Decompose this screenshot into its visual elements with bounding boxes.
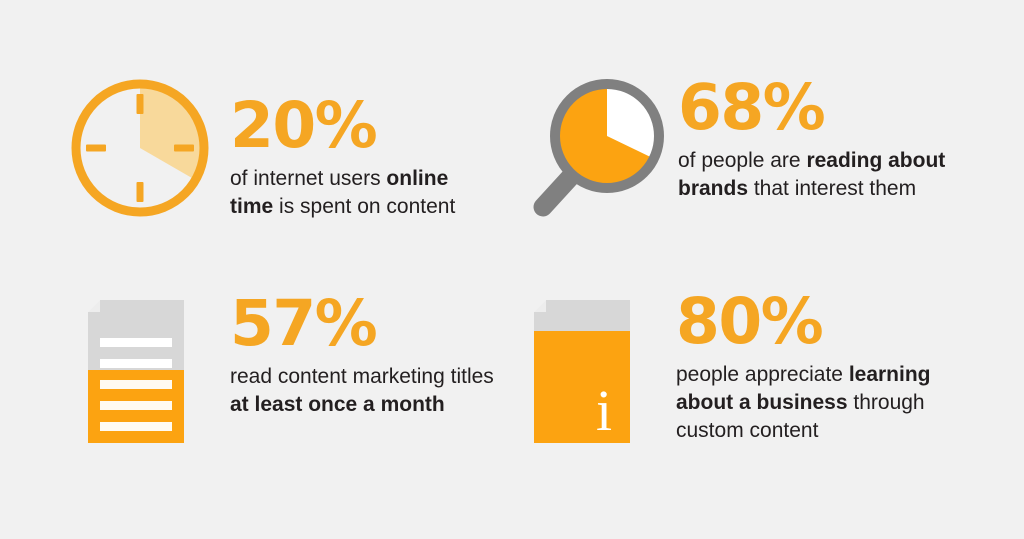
stat-number: 80% bbox=[676, 292, 958, 352]
plain-text: people appreciate bbox=[676, 363, 849, 386]
clock-tick-12 bbox=[137, 94, 144, 114]
stat-description: read content marketing titles at least o… bbox=[230, 363, 512, 419]
clock-icon bbox=[66, 74, 214, 222]
plain-text: is spent on content bbox=[273, 195, 455, 218]
stat-description: people appreciate learning about a busin… bbox=[676, 361, 958, 445]
magnifier-pie-icon-svg bbox=[528, 74, 666, 234]
document-fold-shadow bbox=[534, 300, 546, 312]
document-text-line bbox=[100, 380, 172, 389]
stat-number: 20% bbox=[230, 96, 496, 156]
stat-card-appreciate-learning-about-business: i 80% people appreciate learning about a… bbox=[528, 288, 958, 453]
plain-text: of people are bbox=[678, 149, 806, 172]
document-info-letter: i bbox=[596, 378, 612, 443]
stat-card-people-reading-about-brands: 68% of people are reading about brands t… bbox=[528, 74, 958, 234]
stat-number: 57% bbox=[230, 294, 512, 354]
clock-tick-9 bbox=[86, 145, 106, 152]
stat-description: of internet users online time is spent o… bbox=[230, 165, 496, 221]
clock-tick-3 bbox=[174, 145, 194, 152]
document-lines-icon-svg bbox=[82, 288, 202, 453]
stat-card-internet-users-online-time: 20% of internet users online time is spe… bbox=[66, 74, 496, 222]
document-lines-icon bbox=[82, 288, 202, 453]
document-text-line bbox=[100, 338, 172, 347]
stat-description: of people are reading about brands that … bbox=[678, 147, 958, 203]
document-text-line bbox=[100, 359, 172, 368]
document-info-icon: i bbox=[528, 288, 648, 453]
stat-text-block: 20% of internet users online time is spe… bbox=[230, 74, 496, 221]
stat-number: 68% bbox=[678, 78, 958, 138]
document-info-icon-svg: i bbox=[528, 288, 648, 453]
document-text-line bbox=[100, 401, 172, 410]
stat-card-read-content-marketing-titles: 57% read content marketing titles at lea… bbox=[82, 288, 512, 453]
clock-wedge bbox=[140, 88, 200, 178]
emphasis-text: at least once a month bbox=[230, 393, 445, 416]
document-body-gray bbox=[534, 300, 630, 331]
clock-tick-6 bbox=[137, 182, 144, 202]
document-fold-shadow bbox=[88, 300, 100, 312]
magnifier-pie-icon bbox=[528, 74, 666, 234]
plain-text: of internet users bbox=[230, 167, 386, 190]
stat-text-block: 68% of people are reading about brands t… bbox=[678, 74, 958, 203]
document-text-line bbox=[100, 422, 172, 431]
plain-text: read content marketing titles bbox=[230, 365, 494, 388]
clock-icon-svg bbox=[66, 74, 214, 222]
document-body-orange bbox=[534, 331, 630, 443]
stat-text-block: 57% read content marketing titles at lea… bbox=[230, 288, 512, 419]
plain-text: that interest them bbox=[748, 177, 916, 200]
stat-text-block: 80% people appreciate learning about a b… bbox=[676, 288, 958, 445]
infographic-canvas: 20% of internet users online time is spe… bbox=[0, 0, 1024, 539]
